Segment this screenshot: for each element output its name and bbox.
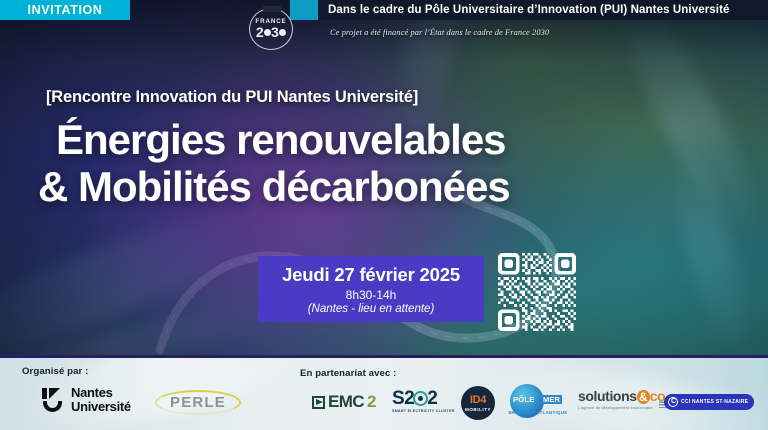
logo-cci-nantes: CCI NANTES ST-NAZAIRE: [664, 394, 754, 410]
emc2-text-b: 2: [367, 392, 376, 412]
france-2030-logo: FRANCE 23: [243, 6, 299, 52]
title-line-1: Énergies renouvelables: [56, 116, 506, 163]
cci-text: CCI NANTES ST-NAZAIRE: [681, 399, 748, 405]
title-line-2: & Mobilités décarbonées: [38, 163, 510, 210]
solutions-text: solutions: [578, 388, 637, 404]
france-2030-dot-icon: [279, 29, 286, 36]
page-title: Énergies renouvelables & Mobilités décar…: [56, 116, 510, 210]
s2e2-ring-icon: [413, 391, 428, 406]
logo-id4-mobility: ID4 MOBILITY: [461, 386, 495, 420]
s2e2-text-b: 2: [427, 388, 437, 409]
logo-nantes-universite: Nantes Université: [42, 386, 131, 414]
header-banner-text: Dans le cadre du Pôle Universitaire d’In…: [328, 4, 730, 16]
nantes-universite-mark-icon: [42, 388, 64, 412]
s2e2-tagline: SMART ELECTRICITY CLUSTER: [392, 409, 458, 413]
invitation-badge: INVITATION: [0, 0, 130, 20]
france-2030-digit-2: 2: [256, 24, 264, 40]
pole-mer-text-a: PÔLE: [513, 395, 534, 404]
perle-text: PERLE: [155, 394, 241, 411]
nu-triangle-shape: [49, 388, 60, 399]
nu-bar-shape: [42, 388, 47, 399]
invitation-poster: INVITATION Dans le cadre du Pôle Univers…: [0, 0, 768, 430]
nantes-line-1: Nantes: [71, 386, 131, 400]
nantes-universite-text: Nantes Université: [71, 386, 131, 414]
event-location: (Nantes - lieu en attente): [308, 303, 435, 315]
id4-text: ID4: [470, 395, 486, 406]
logo-solutions-and-co: solutions&co L’agence de développement é…: [578, 389, 670, 410]
nantes-line-2: Université: [71, 400, 131, 414]
logo-s2e2: S22 SMART ELECTRICITY CLUSTER: [392, 389, 458, 413]
id4-mobility-text: MOBILITY: [465, 407, 491, 412]
france-2030-dot-icon: [264, 29, 271, 36]
solutions-tagline: L’agence de développement économique: [578, 406, 670, 410]
funding-note: Ce projet a été financé par l’État dans …: [330, 22, 549, 40]
pole-mer-tagline: BRETAGNE ATLANTIQUE: [508, 410, 568, 415]
france-2030-digit-3: 3: [271, 24, 279, 40]
solutions-wordmark: solutions&co: [578, 389, 670, 405]
logo-perle: PERLE: [155, 388, 241, 418]
emc2-text-a: EMC: [328, 392, 364, 412]
event-time: 8h30-14h: [346, 288, 397, 302]
cci-circle-icon: [668, 397, 678, 407]
solutions-ampersand-icon: &: [637, 390, 650, 404]
invitation-label: INVITATION: [28, 3, 103, 17]
nu-u-shape: [43, 401, 62, 412]
france-2030-year: 23: [243, 25, 299, 40]
event-eyebrow: [Rencontre Innovation du PUI Nantes Univ…: [46, 88, 418, 107]
logo-pole-mer: PÔLE MER BRETAGNE ATLANTIQUE: [508, 384, 568, 420]
logo-emc2: EMC2: [312, 392, 376, 412]
organiser-label: Organisé par :: [22, 366, 88, 377]
partner-label: En partenariat avec :: [300, 368, 396, 379]
event-date-panel: Jeudi 27 février 2025 8h30-14h (Nantes -…: [258, 256, 484, 322]
pole-mer-text-b: MER: [541, 395, 562, 404]
event-date: Jeudi 27 février 2025: [282, 264, 460, 286]
top-header-bar: INVITATION Dans le cadre du Pôle Univers…: [0, 0, 768, 20]
header-banner: Dans le cadre du Pôle Universitaire d’In…: [318, 0, 768, 20]
funding-note-text: Ce projet a été financé par l’État dans …: [330, 28, 549, 37]
qr-code[interactable]: [498, 253, 576, 331]
emc2-play-icon: [312, 396, 325, 409]
s2e2-text-a: S2: [392, 388, 414, 409]
s2e2-wordmark: S22: [392, 389, 458, 408]
